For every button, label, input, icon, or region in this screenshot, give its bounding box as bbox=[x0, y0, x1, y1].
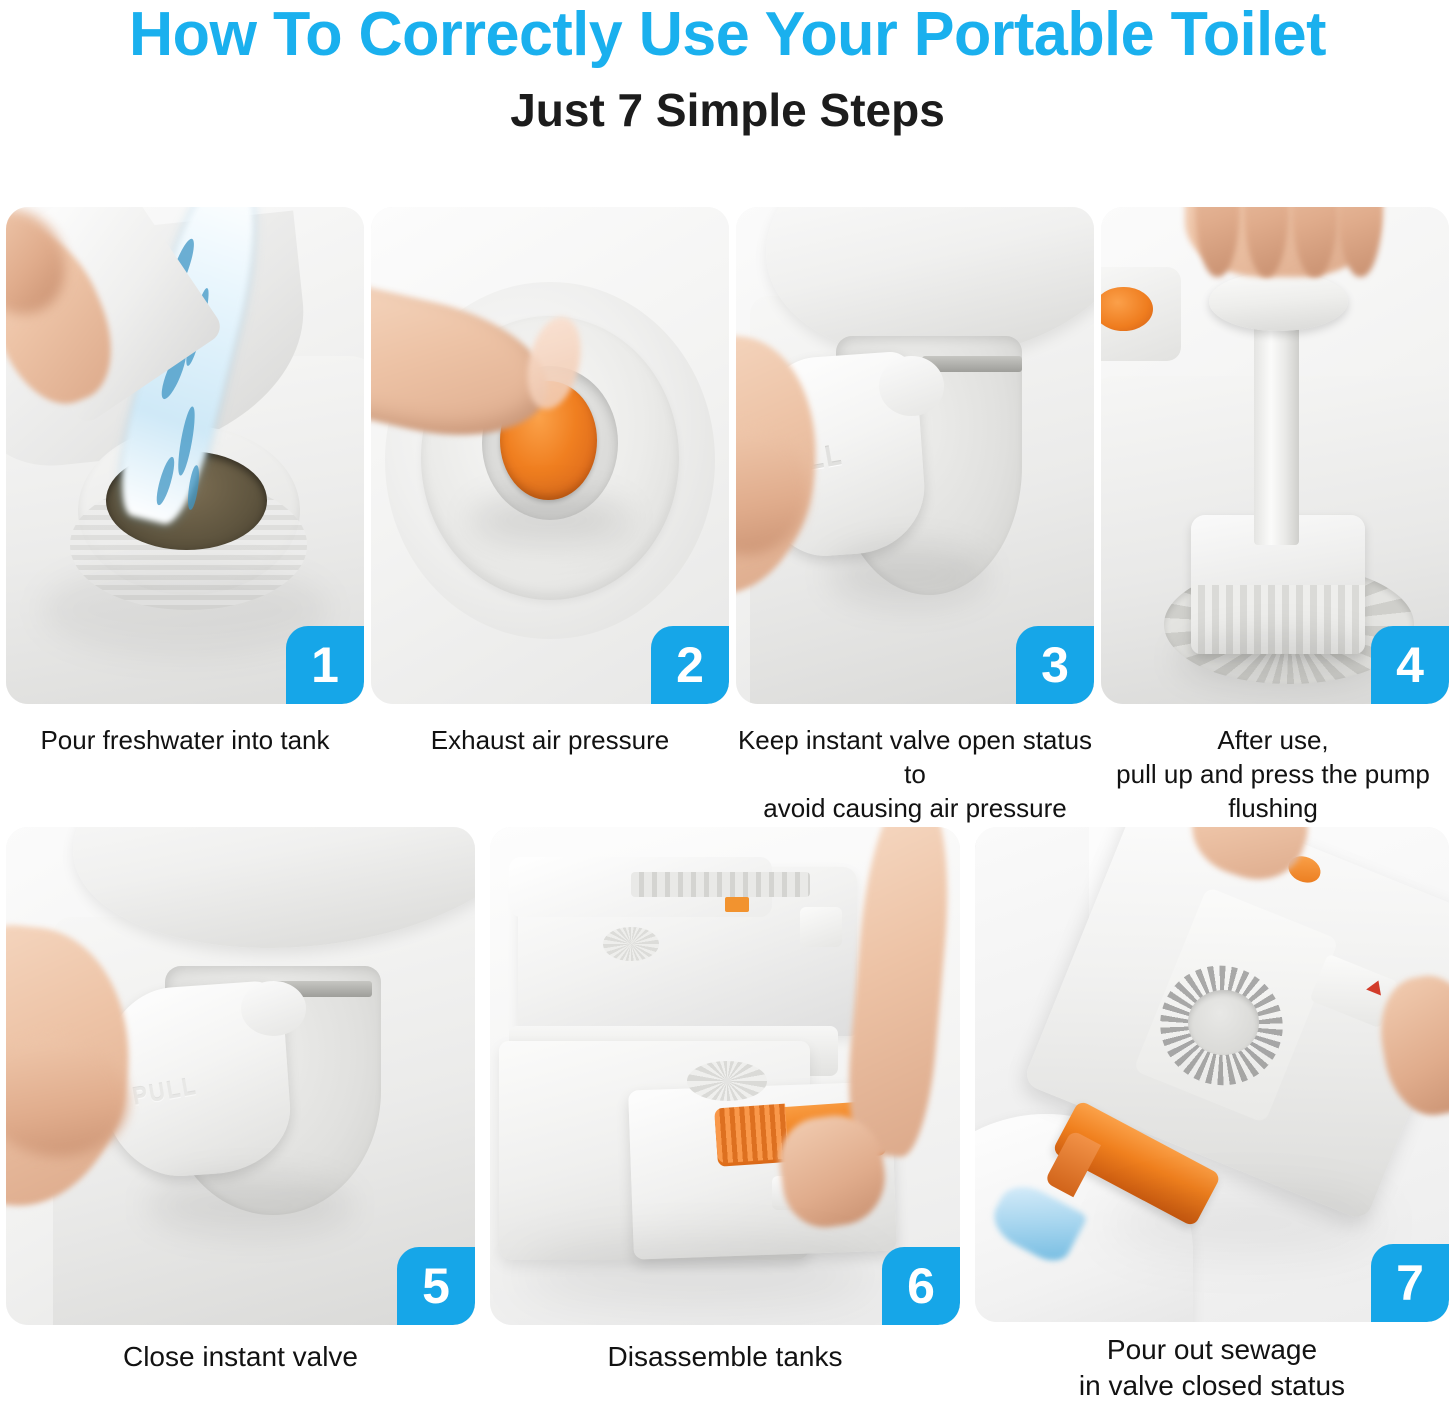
step-caption-6-line1: Disassemble tanks bbox=[490, 1340, 960, 1374]
step-number-badge-1: 1 bbox=[286, 626, 364, 704]
step-caption-3-line1: Keep instant valve open status to bbox=[726, 723, 1104, 791]
step-caption-7-line1: Pour out sewage bbox=[975, 1332, 1449, 1368]
step-card-3: PULL 3 bbox=[736, 207, 1094, 704]
step-7-photo: 7 bbox=[975, 827, 1449, 1322]
step-caption-5-line1: Close instant valve bbox=[6, 1340, 475, 1374]
step-caption-2-line1: Exhaust air pressure bbox=[371, 723, 729, 757]
step-caption-4-line1: After use, bbox=[1091, 723, 1455, 757]
step-caption-6: Disassemble tanks bbox=[490, 1340, 960, 1374]
step-card-5: PULL 5 bbox=[6, 827, 475, 1325]
page-subtitle: Just 7 Simple Steps bbox=[0, 84, 1455, 136]
step-caption-4: After use, pull up and press the pump fl… bbox=[1091, 723, 1455, 825]
step-number-badge-6: 6 bbox=[882, 1247, 960, 1325]
step-card-1: 1 bbox=[6, 207, 364, 704]
step-caption-7: Pour out sewage in valve closed status bbox=[975, 1332, 1449, 1404]
step-2-photo: 2 bbox=[371, 207, 729, 704]
step-caption-3-line2: avoid causing air pressure bbox=[726, 791, 1104, 825]
step-number-badge-2: 2 bbox=[651, 626, 729, 704]
step-caption-5: Close instant valve bbox=[6, 1340, 475, 1374]
step-1-photo: 1 bbox=[6, 207, 364, 704]
close-valve-scene: PULL bbox=[6, 827, 475, 1325]
step-number-badge-5: 5 bbox=[397, 1247, 475, 1325]
step-card-4: 4 bbox=[1101, 207, 1449, 704]
step-caption-7-line2: in valve closed status bbox=[975, 1368, 1449, 1404]
step-card-7: 7 bbox=[975, 827, 1449, 1322]
infographic-page: How To Correctly Use Your Portable Toile… bbox=[0, 0, 1455, 1404]
step-card-6: 6 bbox=[490, 827, 960, 1325]
step-number-badge-4: 4 bbox=[1371, 626, 1449, 704]
step-card-2: 2 bbox=[371, 207, 729, 704]
step-caption-4-line2: pull up and press the pump flushing bbox=[1091, 757, 1455, 825]
step-caption-3: Keep instant valve open status to avoid … bbox=[726, 723, 1104, 825]
step-4-photo: 4 bbox=[1101, 207, 1449, 704]
disassemble-tanks-scene bbox=[490, 827, 960, 1325]
step-caption-1-line1: Pour freshwater into tank bbox=[6, 723, 364, 757]
step-number-badge-7: 7 bbox=[1371, 1244, 1449, 1322]
step-6-photo: 6 bbox=[490, 827, 960, 1325]
step-5-photo: PULL 5 bbox=[6, 827, 475, 1325]
page-title: How To Correctly Use Your Portable Toile… bbox=[11, 2, 1444, 68]
step-number-badge-3: 3 bbox=[1016, 626, 1094, 704]
step-3-photo: PULL 3 bbox=[736, 207, 1094, 704]
step-caption-1: Pour freshwater into tank bbox=[6, 723, 364, 757]
pour-sewage-scene bbox=[975, 827, 1449, 1322]
step-caption-2: Exhaust air pressure bbox=[371, 723, 729, 757]
